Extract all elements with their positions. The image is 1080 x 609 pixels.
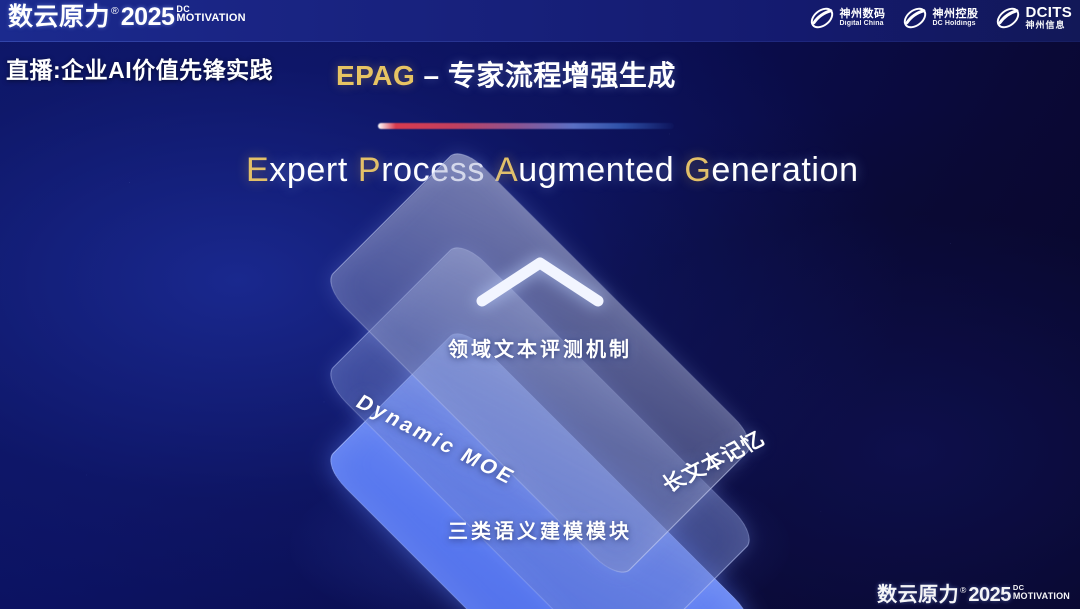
brand-dc-line2: MOTIVATION — [1013, 592, 1070, 600]
brand-logo-watermark: 数云原力 ® 2025 DC MOTIVATION — [877, 585, 1070, 605]
swoosh-icon — [809, 5, 835, 31]
partner-label: 神州数码 Digital China — [840, 9, 886, 28]
partner-name-en: Digital China — [840, 20, 886, 27]
partner-logo-dcits: DCITS 神州信息 — [995, 5, 1073, 31]
slide-canvas: 数云原力 ® 2025 DC MOTIVATION 神州数码 Digital C… — [0, 0, 1080, 609]
brand-name-cn: 数云原力 — [877, 585, 959, 605]
partner-label: 神州控股 DC Holdings — [933, 9, 979, 28]
brand-registered-mark: ® — [111, 6, 119, 17]
live-stream-banner: 直播:企业AI价值先锋实践 — [6, 51, 273, 85]
title-separator: – — [415, 60, 448, 91]
top-layer-plate — [330, 153, 750, 573]
gradient-divider — [378, 123, 674, 129]
partner-logo-digital-china: 神州数码 Digital China — [809, 5, 886, 31]
partner-name-en: DCITS — [1026, 5, 1073, 21]
partner-name-en: DC Holdings — [933, 20, 979, 27]
subtitle-word1-capital: E — [246, 151, 269, 189]
brand-logo-header: 数云原力 ® 2025 DC MOTIVATION — [8, 5, 246, 30]
partner-name-cn: 神州控股 — [933, 9, 979, 21]
brand-year: 2025 — [968, 585, 1011, 605]
brand-dc-motivation: DC MOTIVATION — [176, 5, 245, 23]
swoosh-icon — [995, 5, 1021, 31]
page-title: EPAG – 专家流程增强生成 — [336, 54, 676, 94]
layered-architecture-diagram: 领域文本评测机制 Dynamic MOE 长文本记忆 三类语义建模模块 — [262, 215, 818, 595]
top-layer-surface — [322, 145, 759, 582]
brand-registered-mark: ® — [960, 586, 966, 594]
partner-logo-group: 神州数码 Digital China 神州控股 DC Holdings — [809, 5, 1073, 31]
partner-name-cn: 神州信息 — [1026, 21, 1073, 30]
title-acronym: EPAG — [336, 60, 415, 91]
brand-dc-line2: MOTIVATION — [176, 13, 245, 23]
brand-year: 2025 — [121, 5, 175, 30]
brand-name-cn: 数云原力 — [8, 5, 110, 30]
title-chinese: 专家流程增强生成 — [448, 60, 676, 91]
partner-label: DCITS 神州信息 — [1026, 5, 1073, 30]
partner-name-cn: 神州数码 — [840, 9, 886, 21]
brand-dc-motivation: DC MOTIVATION — [1013, 585, 1070, 600]
swoosh-icon — [902, 5, 928, 31]
partner-logo-dc-holdings: 神州控股 DC Holdings — [902, 5, 979, 31]
